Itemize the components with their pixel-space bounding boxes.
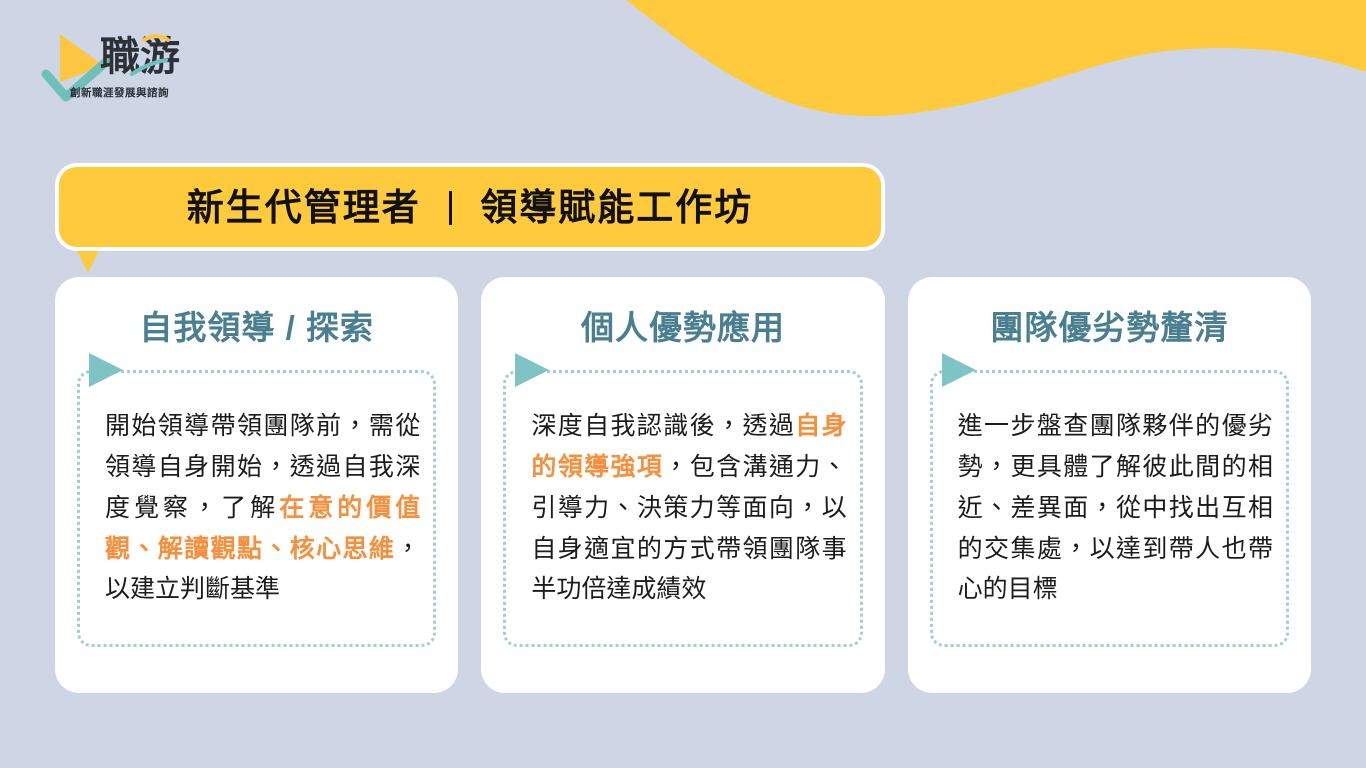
card-body-wrapper: 深度自我認識後，透過自身的領導強項，包含溝通力、引導力、決策力等面向，以自身適宜…: [503, 370, 862, 647]
card-title: 自我領導 / 探索: [55, 277, 458, 346]
card-text-segment: 深度自我認識後，透過: [531, 412, 795, 440]
content-card-personal-strengths[interactable]: 個人優勢應用 深度自我認識後，透過自身的領導強項，包含溝通力、引導力、決策力等面…: [481, 277, 884, 693]
brand-logo[interactable]: 職游 創新職涯發展與諮詢: [26, 22, 198, 104]
card-body-text: 深度自我認識後，透過自身的領導強項，包含溝通力、引導力、決策力等面向，以自身適宜…: [531, 406, 846, 610]
page-title: 新生代管理者 領導賦能工作坊: [187, 189, 754, 226]
title-banner: 新生代管理者 領導賦能工作坊: [55, 163, 885, 251]
card-body-wrapper: 開始領導帶領團隊前，需從領導自身開始，透過自我深度覺察，了解在意的價值觀、解讀觀…: [77, 370, 436, 647]
slide-root: 職游 創新職涯發展與諮詢 新生代管理者 領導賦能工作坊 自我領導 / 探索: [0, 0, 1366, 768]
page-title-separator: [449, 191, 452, 225]
content-card-self-leadership[interactable]: 自我領導 / 探索 開始領導帶領團隊前，需從領導自身開始，透過自我深度覺察，了解…: [55, 277, 458, 693]
card-body-text: 開始領導帶領團隊前，需從領導自身開始，透過自我深度覺察，了解在意的價值觀、解讀觀…: [105, 406, 420, 610]
card-body-text: 進一步盤查團隊夥伴的優劣勢，更具體了解彼此間的相近、差異面，從中找出互相的交集處…: [958, 406, 1273, 610]
title-banner-container: 新生代管理者 領導賦能工作坊: [55, 163, 885, 261]
play-triangle-icon: [89, 353, 123, 387]
yellow-wave-decoration: [596, 0, 1366, 145]
card-body-wrapper: 進一步盤查團隊夥伴的優劣勢，更具體了解彼此間的相近、差異面，從中找出互相的交集處…: [930, 370, 1289, 647]
page-title-right: 領導賦能工作坊: [480, 187, 753, 228]
logo-graphic: 職游 創新職涯發展與諮詢: [26, 22, 198, 104]
page-title-left: 新生代管理者: [187, 187, 421, 228]
logo-tagline: 創新職涯發展與諮詢: [70, 86, 169, 99]
play-triangle-icon: [515, 353, 549, 387]
card-title: 個人優勢應用: [481, 277, 884, 346]
play-triangle-icon: [942, 353, 976, 387]
card-title: 團隊優劣勢釐清: [908, 277, 1311, 346]
card-text-segment: 進一步盤查團隊夥伴的優劣勢，更具體了解彼此間的相近、差異面，從中找出互相的交集處…: [958, 412, 1273, 603]
content-cards-row: 自我領導 / 探索 開始領導帶領團隊前，需從領導自身開始，透過自我深度覺察，了解…: [55, 277, 1311, 693]
content-card-team-swot[interactable]: 團隊優劣勢釐清 進一步盤查團隊夥伴的優劣勢，更具體了解彼此間的相近、差異面，從中…: [908, 277, 1311, 693]
